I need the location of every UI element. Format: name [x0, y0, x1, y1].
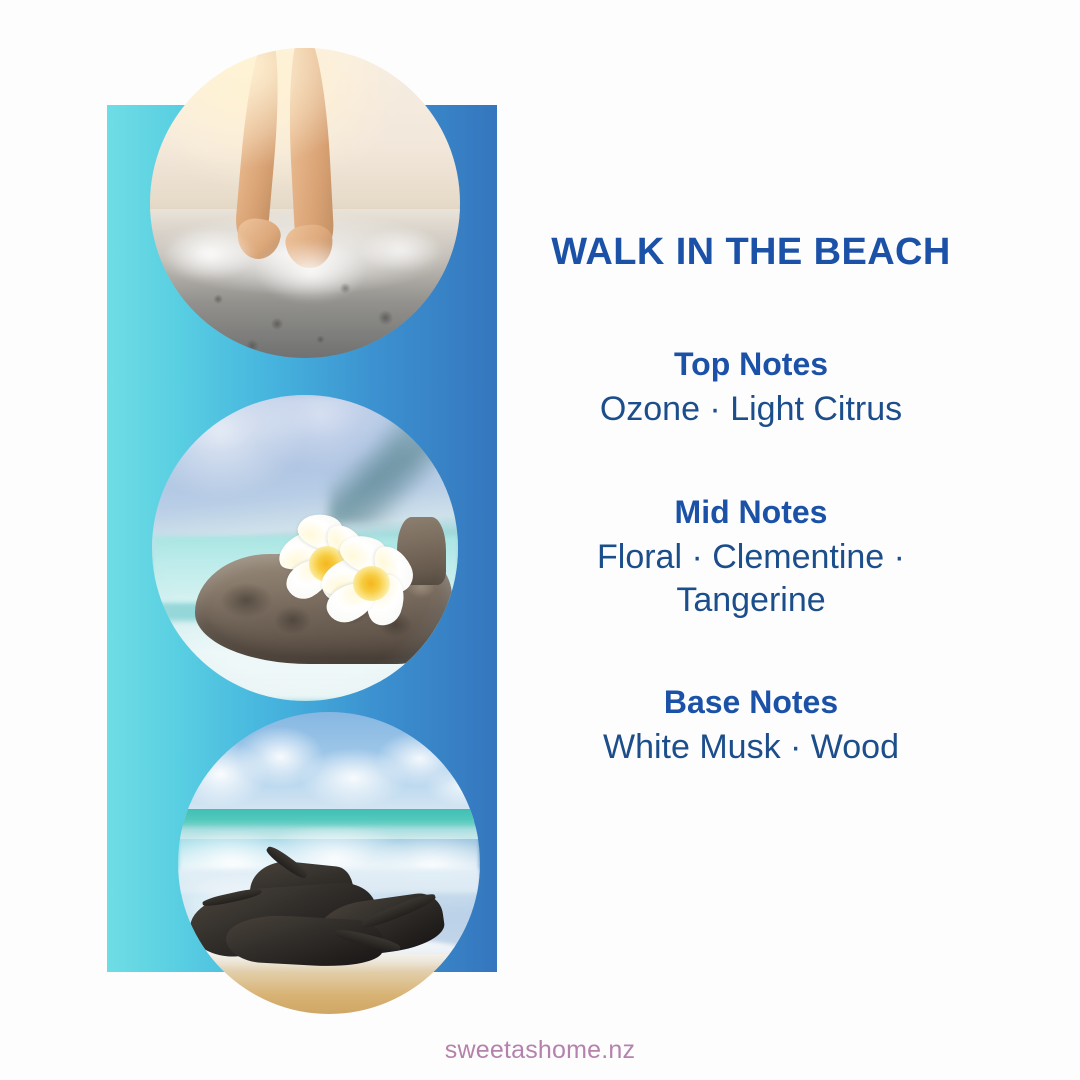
note-body-top: Ozone · Light Citrus [512, 388, 990, 431]
note-group-top: Top Notes Ozone · Light Citrus [512, 345, 990, 431]
footer-website: sweetashome.nz [0, 1036, 1080, 1065]
photo-beach-walk [150, 48, 460, 358]
photo-frangipani-scene [152, 395, 458, 701]
photo-beach-walk-scene [150, 48, 460, 358]
edge-vignette [152, 395, 458, 701]
note-title-mid: Mid Notes [512, 493, 990, 532]
sun-glow [150, 48, 460, 358]
poster-canvas: WALK IN THE BEACH Top Notes Ozone · Ligh… [0, 0, 1080, 1080]
photo-frangipani-driftwood [152, 395, 458, 701]
note-title-base: Base Notes [512, 683, 990, 722]
note-group-mid: Mid Notes Floral · Clementine · Tangerin… [512, 493, 990, 622]
photo-driftwood-scene [178, 712, 480, 1014]
photo-driftwood-surf [178, 712, 480, 1014]
note-body-mid: Floral · Clementine · Tangerine [512, 536, 990, 622]
cloud-layer [178, 718, 480, 815]
note-body-base: White Musk · Wood [512, 726, 990, 769]
note-group-base: Base Notes White Musk · Wood [512, 683, 990, 769]
note-title-top: Top Notes [512, 345, 990, 384]
scent-details: WALK IN THE BEACH Top Notes Ozone · Ligh… [512, 230, 990, 769]
product-title: WALK IN THE BEACH [512, 230, 990, 275]
